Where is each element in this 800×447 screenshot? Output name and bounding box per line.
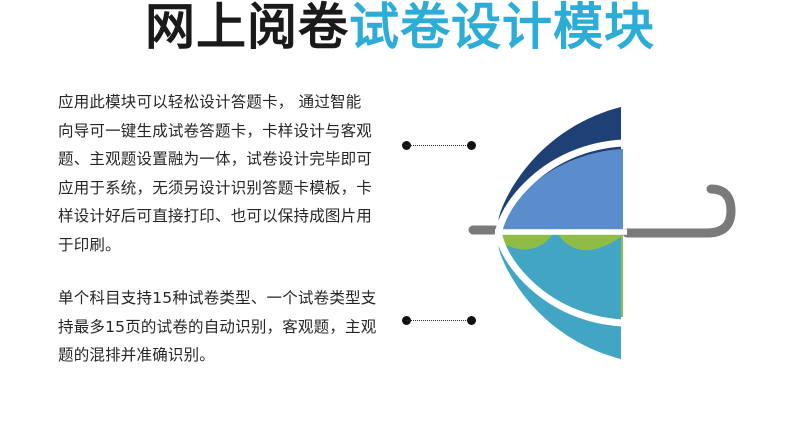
title-segment-dark: 网上阅卷 xyxy=(145,0,349,56)
umbrella-handle-icon xyxy=(627,189,731,233)
page-title: 网上阅卷试卷设计模块 xyxy=(0,2,800,52)
description-paragraph-top: 应用此模块可以轻松设计答题卡， 通过智能 向导可一键生成试卷答题卡，卡样设计与客… xyxy=(58,88,410,259)
umbrella-svg xyxy=(455,85,755,385)
slide-canvas: 网上阅卷试卷设计模块 应用此模块可以轻松设计答题卡， 通过智能 向导可一键生成试… xyxy=(0,0,800,447)
description-paragraph-bottom: 单个科目支持15种试卷类型、一个试卷类型支 持最多15页的试卷的自动识别，客观题… xyxy=(58,284,410,370)
title-segment-accent: 试卷设计模块 xyxy=(349,0,655,56)
umbrella-illustration xyxy=(455,85,755,385)
